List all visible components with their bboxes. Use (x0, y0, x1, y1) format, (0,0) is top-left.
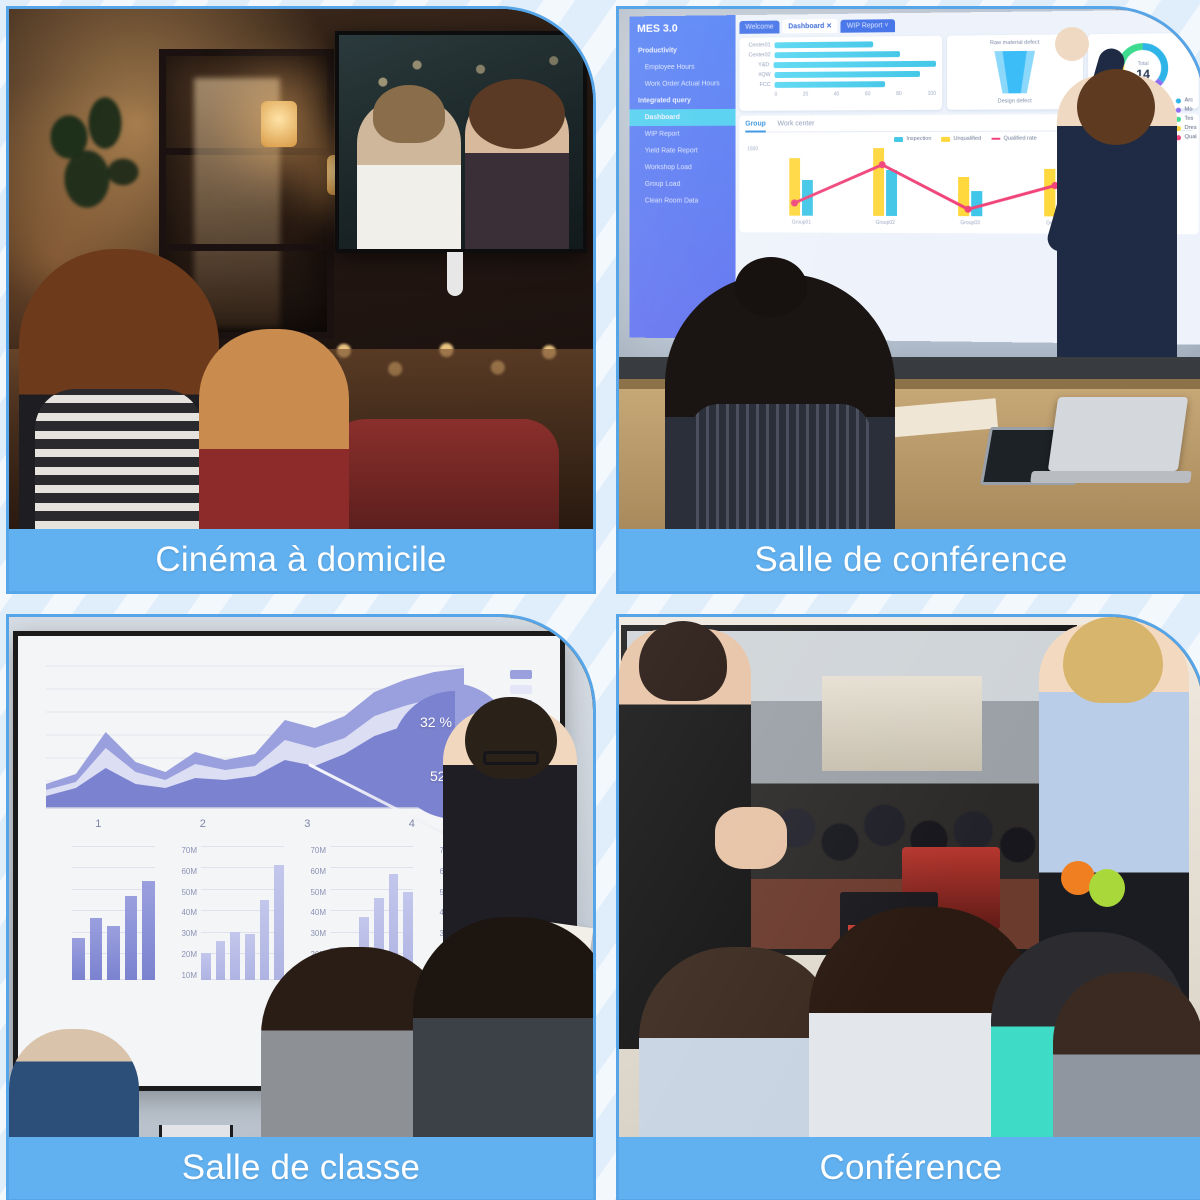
sidebar-item-yield-rate-report[interactable]: Yield Rate Report (629, 142, 735, 159)
bar (230, 932, 240, 980)
ytick: 50M (292, 888, 326, 897)
donut-legend-item: Mo (1176, 107, 1196, 113)
legend-swatch-icon (941, 136, 950, 141)
pie-label-32: 32 % (420, 714, 452, 730)
hbar-fill (773, 61, 936, 68)
hbar-tick: 0 (775, 92, 778, 98)
legend-label: Qualified rate (1003, 136, 1036, 142)
bars (72, 846, 155, 980)
glasses-icon (483, 751, 539, 765)
speaker-hands (715, 807, 787, 869)
plant-icon (33, 95, 153, 235)
ytick: 40M (292, 908, 326, 917)
classroom-scene: 1 2 3 4 (9, 617, 593, 1137)
sidebar-item-group-load[interactable]: Group Load (629, 176, 735, 193)
movie-person-left (357, 99, 461, 249)
caption-conference: Conférence (619, 1137, 1200, 1199)
area-xtick: 1 (95, 818, 101, 830)
hbar-axis: 0 20 40 60 80 100 (775, 91, 936, 98)
sidebar-item-integrated-query[interactable]: Integrated query (629, 92, 735, 109)
whiteboard-tray (159, 1125, 233, 1137)
legend-line-icon (991, 138, 1000, 140)
bar (142, 881, 155, 980)
mes-logo: MES 3.0 (629, 19, 735, 43)
sidebar-item-employee-hours[interactable]: Employee Hours (629, 59, 735, 77)
bar (107, 926, 120, 980)
caption-classroom: Salle de classe (9, 1137, 593, 1199)
panel-conference-room[interactable]: MES 3.0 Productivity Employee Hours Work… (616, 6, 1200, 594)
donut-legend-label: Mo (1185, 107, 1193, 113)
caption-conference-room: Salle de conférence (619, 529, 1200, 591)
legend-item-qualified-rate: Qualified rate (991, 136, 1036, 142)
sidebar-item-dashboard[interactable]: Dashboard (629, 109, 735, 126)
donut-legend-item: Arc (1176, 97, 1196, 103)
donut-legend-item: Dres (1176, 125, 1196, 131)
tab-wip-report[interactable]: WIP Report ˅ (841, 19, 895, 33)
screen-stand (447, 252, 463, 296)
presenter-hand (1055, 27, 1089, 61)
hbar-fill (775, 71, 920, 78)
bar-chart-1: 70M 60M 50M 40M 30M 20M 10M (34, 846, 157, 996)
legend-item-unqualified: Unqualified (941, 136, 981, 142)
panel-home-cinema[interactable]: Cinéma à domicile (6, 6, 596, 594)
laptop-device (1048, 397, 1188, 471)
ytick: 60M (292, 867, 326, 876)
bar2-plot (201, 846, 284, 980)
bar (260, 900, 270, 980)
sub-tab-group[interactable]: Group (745, 121, 765, 133)
tab-dashboard[interactable]: Dashboard ✕ (782, 19, 837, 34)
bar1-plot (72, 846, 155, 980)
hbar-row: Center01 (745, 41, 936, 49)
hbar-label: Y&D (745, 62, 769, 68)
bar (72, 938, 85, 980)
ytick: 10M (163, 971, 197, 980)
hbar-label: Center01 (745, 42, 770, 48)
bar (245, 934, 255, 980)
use-case-grid: Cinéma à domicile MES 3.0 Productivity E… (0, 0, 1200, 1200)
sidebar-item-wip-report[interactable]: WIP Report (629, 126, 735, 143)
bar2-yticks: 70M 60M 50M 40M 30M 20M 10M (163, 846, 197, 980)
bar (125, 896, 138, 980)
projection-screen (335, 31, 587, 253)
panel-classroom[interactable]: 1 2 3 4 (6, 614, 596, 1200)
ytick: 30M (163, 929, 197, 938)
attendee-hair-bun (735, 257, 807, 317)
ytick: 70M (163, 846, 197, 855)
hbar-label: #QW (745, 72, 770, 78)
horizontal-bar-chart-card: Center01 Center02 Y&D (739, 36, 942, 111)
ytick: 40M (163, 908, 197, 917)
viewer-child (199, 329, 349, 529)
donut-legend-label: Tes (1185, 116, 1194, 122)
sidebar-item-work-order-actual-hours[interactable]: Work Order Actual Hours (629, 75, 735, 92)
area-xtick: 2 (200, 818, 206, 830)
lamp-icon (261, 101, 297, 147)
donut-legend-item: Tes (1176, 116, 1196, 122)
hbar-label: Center02 (745, 52, 770, 58)
hbar-tick: 20 (803, 92, 808, 98)
presenter (1057, 75, 1177, 357)
legend-label: Inspection (906, 136, 931, 142)
sidebar-item-workshop-load[interactable]: Workshop Load (629, 159, 735, 176)
green-apple-prop (1089, 869, 1125, 907)
cushion (319, 419, 559, 529)
donut-legend: Arc Mo Tes Dres Qual (1176, 97, 1196, 143)
ytick: 30M (292, 929, 326, 938)
donut-legend-label: Qual (1185, 134, 1197, 140)
hbar-row: Y&D (745, 61, 936, 69)
legend-item-inspection: Inspection (894, 136, 931, 142)
hbar-tick: 60 (865, 91, 871, 97)
tab-welcome[interactable]: Welcome (739, 21, 779, 34)
viewer-adult (19, 249, 219, 529)
ytick: 20M (163, 950, 197, 959)
conference-scene (619, 617, 1200, 1137)
donut-legend-label: Arc (1185, 97, 1194, 103)
projected-movie-image (339, 35, 583, 249)
hbar-fill (775, 51, 901, 58)
hbar-tick: 80 (896, 91, 902, 97)
caption-home-cinema: Cinéma à domicile (9, 529, 593, 591)
bar (201, 953, 211, 980)
funnel-label-bottom: Design defect (998, 98, 1032, 104)
donut-legend-item: Qual (1176, 134, 1196, 140)
student-edge (9, 1029, 139, 1137)
bar-chart-2: 70M 60M 50M 40M 30M 20M 10M (163, 846, 286, 996)
hbar-tick: 40 (834, 91, 839, 97)
student-foreground-right (413, 917, 593, 1137)
area-xtick: 3 (304, 818, 310, 830)
hbar-row: #QW (745, 71, 936, 78)
home-cinema-scene (9, 9, 593, 529)
hbar-label: FCC (745, 82, 770, 88)
panel-conference[interactable]: Conférence (616, 614, 1200, 1200)
hbar-row: Center02 (745, 51, 936, 59)
legend-label: Unqualified (953, 136, 981, 142)
ytick: 50M (163, 888, 197, 897)
bars (201, 846, 284, 980)
legend-swatch-icon (1176, 107, 1181, 112)
audience-member-4 (1053, 972, 1200, 1137)
donut-legend-label: Dres (1185, 125, 1197, 131)
ytick: 70M (292, 846, 326, 855)
movie-person-right (465, 89, 569, 249)
legend-swatch-icon (1176, 98, 1181, 103)
photo-window (822, 676, 982, 771)
funnel-shape-icon (974, 49, 1055, 96)
mes-tab-bar[interactable]: Welcome Dashboard ✕ WIP Report ˅ (739, 13, 1198, 34)
bar (274, 865, 284, 980)
ytick: 60M (163, 867, 197, 876)
hbar-fill (775, 81, 885, 88)
hbar-tick: 100 (928, 91, 936, 97)
hbar-fill (775, 41, 874, 48)
sidebar-item-clean-room-data[interactable]: Clean Room Data (629, 193, 735, 210)
bar (90, 918, 103, 980)
sidebar-item-productivity[interactable]: Productivity (629, 42, 735, 60)
conference-room-scene: MES 3.0 Productivity Employee Hours Work… (619, 9, 1200, 529)
bar (216, 941, 226, 980)
hbar-row: FCC (745, 81, 936, 88)
sub-tab-work-center[interactable]: Work center (778, 120, 815, 128)
legend-swatch-icon (894, 137, 903, 142)
funnel-label-top: Raw material defect (990, 40, 1039, 47)
